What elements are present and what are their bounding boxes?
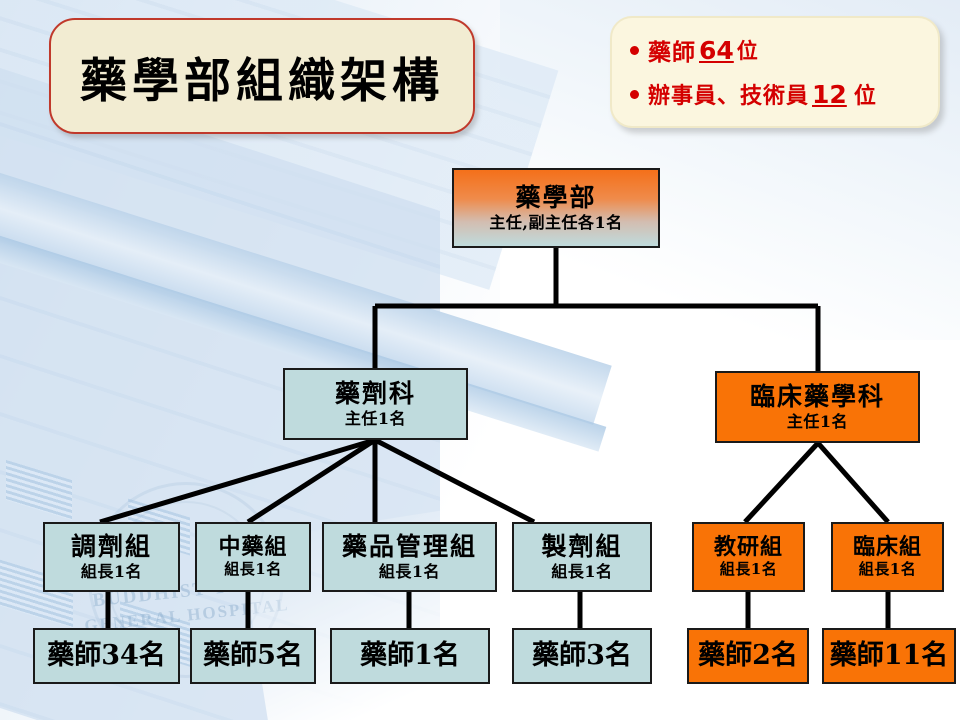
org-node-staff-chinese-medicine-title: 藥師5名 <box>203 641 303 671</box>
org-node-staff-drug-management-title: 藥師1名 <box>360 641 460 671</box>
org-node-staff-clinical[interactable]: 藥師11名 <box>822 628 956 684</box>
org-node-group-manufacturing-title: 製劑組 <box>541 533 622 561</box>
org-node-group-drug-management[interactable]: 藥品管理組 組長1名 <box>322 522 497 592</box>
org-node-staff-clinical-title: 藥師11名 <box>830 641 949 671</box>
edge-dept1-g1 <box>100 440 375 522</box>
org-node-root-subtitle: 主任,副主任各1名 <box>489 214 622 232</box>
org-node-root[interactable]: 藥學部 主任,副主任各1名 <box>452 168 660 248</box>
org-chart-connectors <box>0 0 960 720</box>
org-node-group-clinical-title: 臨床組 <box>853 535 922 559</box>
org-chart: 藥學部 主任,副主任各1名 藥劑科 主任1名 臨床藥學科 主任1名 調劑組 組長… <box>0 0 960 720</box>
org-node-staff-manufacturing-title: 藥師3名 <box>532 641 632 671</box>
org-node-dept1-subtitle: 主任1名 <box>345 410 406 428</box>
org-node-dept1-title: 藥劑科 <box>335 380 416 408</box>
org-node-staff-chinese-medicine[interactable]: 藥師5名 <box>190 628 316 684</box>
org-node-group-education-research-subtitle: 組長1名 <box>720 561 777 578</box>
org-node-staff-dispensing[interactable]: 藥師34名 <box>33 628 180 684</box>
slide-canvas: BUDDHIST TZU CHI GENERAL HOSPITAL 藥學部組織架… <box>0 0 960 720</box>
org-node-group-drug-management-subtitle: 組長1名 <box>379 563 440 581</box>
org-node-group-dispensing[interactable]: 調劑組 組長1名 <box>43 522 180 592</box>
org-node-group-dispensing-subtitle: 組長1名 <box>81 563 142 581</box>
org-node-group-dispensing-title: 調劑組 <box>71 533 152 561</box>
org-node-group-clinical-subtitle: 組長1名 <box>859 561 916 578</box>
org-node-group-chinese-medicine[interactable]: 中藥組 組長1名 <box>195 522 311 592</box>
org-node-root-title: 藥學部 <box>515 184 596 212</box>
org-node-group-clinical[interactable]: 臨床組 組長1名 <box>831 522 944 592</box>
org-node-group-education-research[interactable]: 教研組 組長1名 <box>692 522 805 592</box>
edge-dept2-g6 <box>818 443 888 522</box>
org-node-dept2[interactable]: 臨床藥學科 主任1名 <box>715 371 920 443</box>
org-node-group-drug-management-title: 藥品管理組 <box>342 533 477 561</box>
org-node-group-manufacturing[interactable]: 製劑組 組長1名 <box>512 522 652 592</box>
org-node-dept2-title: 臨床藥學科 <box>750 383 885 411</box>
org-node-staff-education-research[interactable]: 藥師2名 <box>687 628 809 684</box>
org-node-dept2-subtitle: 主任1名 <box>787 413 848 431</box>
org-node-group-chinese-medicine-title: 中藥組 <box>218 535 287 559</box>
org-node-group-education-research-title: 教研組 <box>714 535 783 559</box>
org-node-staff-dispensing-title: 藥師34名 <box>47 641 166 671</box>
edge-dept2-g5 <box>745 443 818 522</box>
org-node-dept1[interactable]: 藥劑科 主任1名 <box>283 368 468 440</box>
org-node-group-chinese-medicine-subtitle: 組長1名 <box>224 561 281 578</box>
org-node-staff-manufacturing[interactable]: 藥師3名 <box>512 628 652 684</box>
org-node-staff-education-research-title: 藥師2名 <box>698 641 798 671</box>
org-node-group-manufacturing-subtitle: 組長1名 <box>551 563 612 581</box>
edge-dept1-g2 <box>248 440 375 522</box>
edge-dept1-g4 <box>375 440 534 522</box>
org-node-staff-drug-management[interactable]: 藥師1名 <box>330 628 490 684</box>
